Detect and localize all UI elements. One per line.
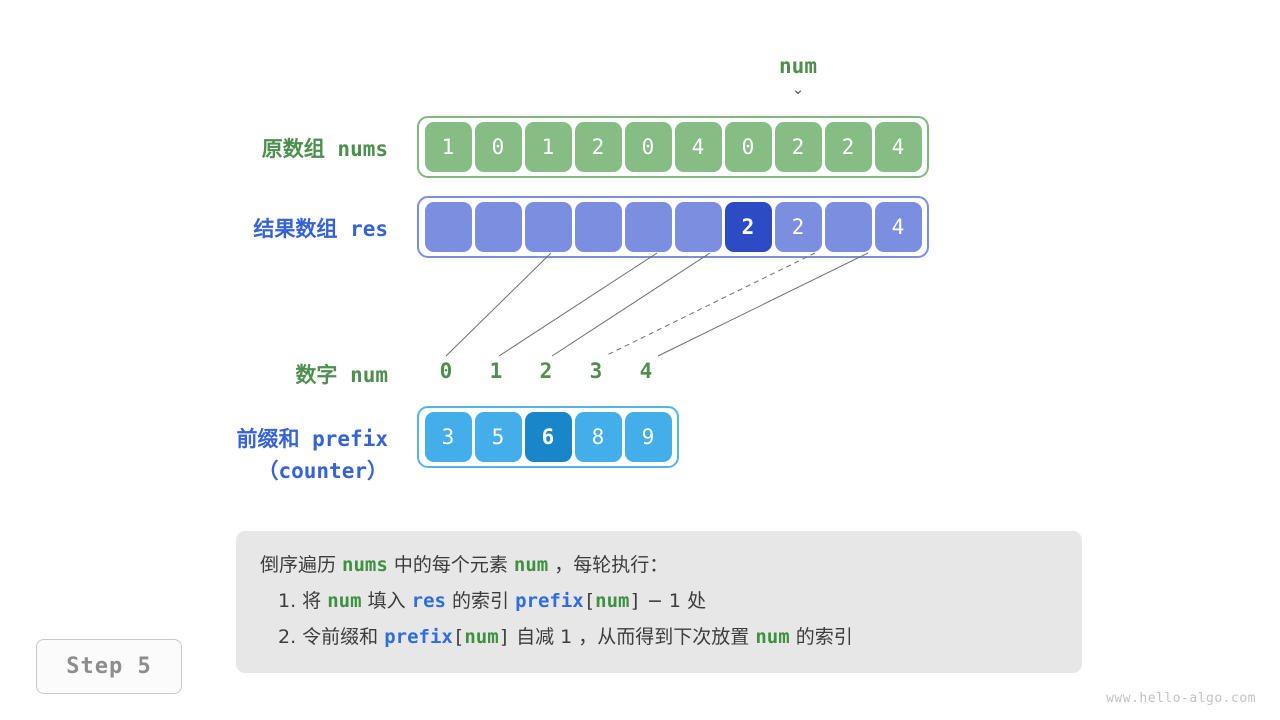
caption-code-prefix: prefix [515, 590, 584, 612]
prefix-cell: 9 [625, 412, 672, 462]
caption-line-0: 倒序遍历 nums 中的每个元素 num ，每轮执行： [260, 547, 1058, 583]
chevron-down-icon: ⌄ [753, 81, 843, 97]
num-digit: 2 [521, 359, 571, 383]
caption-text: 的索引 [446, 590, 515, 612]
nums-cell: 0 [475, 122, 522, 172]
watermark: www.hello-algo.com [1106, 691, 1256, 706]
num-digit: 1 [471, 359, 521, 383]
caption-code-num: num [514, 554, 548, 576]
prefix-cell: 8 [575, 412, 622, 462]
prefix-cell: 3 [425, 412, 472, 462]
prefix-cell: 5 [475, 412, 522, 462]
caption-code-res: res [412, 590, 446, 612]
nums-array: 1012040224 [417, 116, 929, 178]
caption-line-1: 1. 将 num 填入 res 的索引 prefix[num] − 1 处 [260, 583, 1058, 619]
res-array: 224 [417, 196, 929, 258]
res-cell [825, 202, 872, 252]
caption-bracket-open: [ [584, 590, 595, 612]
res-cell: 2 [725, 202, 772, 252]
connector-line [552, 253, 710, 356]
prefix-array: 35689 [417, 406, 679, 468]
step-badge: Step 5 [36, 639, 182, 694]
caption-text: 1. 将 [278, 590, 327, 612]
num-pointer: num ⌄ [753, 55, 843, 97]
caption-text: − 1 处 [641, 590, 706, 612]
res-row-label: 结果数组 res [140, 213, 388, 243]
res-cell [475, 202, 522, 252]
caption-code-num: num [595, 590, 629, 612]
prefix-row-label-line2: （counter） [140, 455, 388, 485]
prefix-row-label-line1: 前缀和 prefix [140, 423, 388, 453]
caption-bracket-open: [ [453, 626, 464, 648]
res-cell: 4 [875, 202, 922, 252]
nums-cell: 1 [525, 122, 572, 172]
nums-cell: 4 [675, 122, 722, 172]
nums-cell: 2 [575, 122, 622, 172]
caption-bracket-close: ] [499, 626, 510, 648]
caption-code-num: num [464, 626, 498, 648]
nums-row-label: 原数组 nums [140, 133, 388, 163]
prefix-cell: 6 [525, 412, 572, 462]
res-cell [575, 202, 622, 252]
caption-code-prefix: prefix [384, 626, 453, 648]
connector-line [499, 253, 657, 356]
nums-cell: 4 [875, 122, 922, 172]
caption-text: 填入 [362, 590, 412, 612]
caption-text: 2. 令前缀和 [278, 626, 384, 648]
nums-cell: 2 [825, 122, 872, 172]
connector-line [605, 253, 815, 356]
num-digit: 4 [621, 359, 671, 383]
num-digit-row: 01234 [421, 359, 671, 383]
res-cell [625, 202, 672, 252]
caption-code-num: num [755, 626, 789, 648]
caption-box: 倒序遍历 nums 中的每个元素 num ，每轮执行： 1. 将 num 填入 … [236, 531, 1082, 673]
caption-line-2: 2. 令前缀和 prefix[num] 自减 1 ，从而得到下次放置 num 的… [260, 619, 1058, 655]
num-pointer-label: num [753, 55, 843, 77]
caption-text: ，每轮执行： [548, 554, 668, 576]
caption-text: 倒序遍历 [260, 554, 342, 576]
nums-cell: 0 [725, 122, 772, 172]
nums-cell: 0 [625, 122, 672, 172]
caption-text: 自减 1 ，从而得到下次放置 [510, 626, 755, 648]
num-digit: 0 [421, 359, 471, 383]
num-digit: 3 [571, 359, 621, 383]
connector-line [446, 253, 551, 356]
caption-text: 的索引 [790, 626, 853, 648]
nums-cell: 1 [425, 122, 472, 172]
caption-text: 中的每个元素 [388, 554, 514, 576]
num-digits-row-label: 数字 num [140, 359, 388, 389]
nums-cell: 2 [775, 122, 822, 172]
connector-line [658, 253, 868, 356]
res-cell [425, 202, 472, 252]
caption-code-num: num [327, 590, 361, 612]
res-cell [675, 202, 722, 252]
caption-bracket-close: ] [629, 590, 640, 612]
caption-code-nums: nums [342, 554, 388, 576]
res-cell: 2 [775, 202, 822, 252]
res-cell [525, 202, 572, 252]
